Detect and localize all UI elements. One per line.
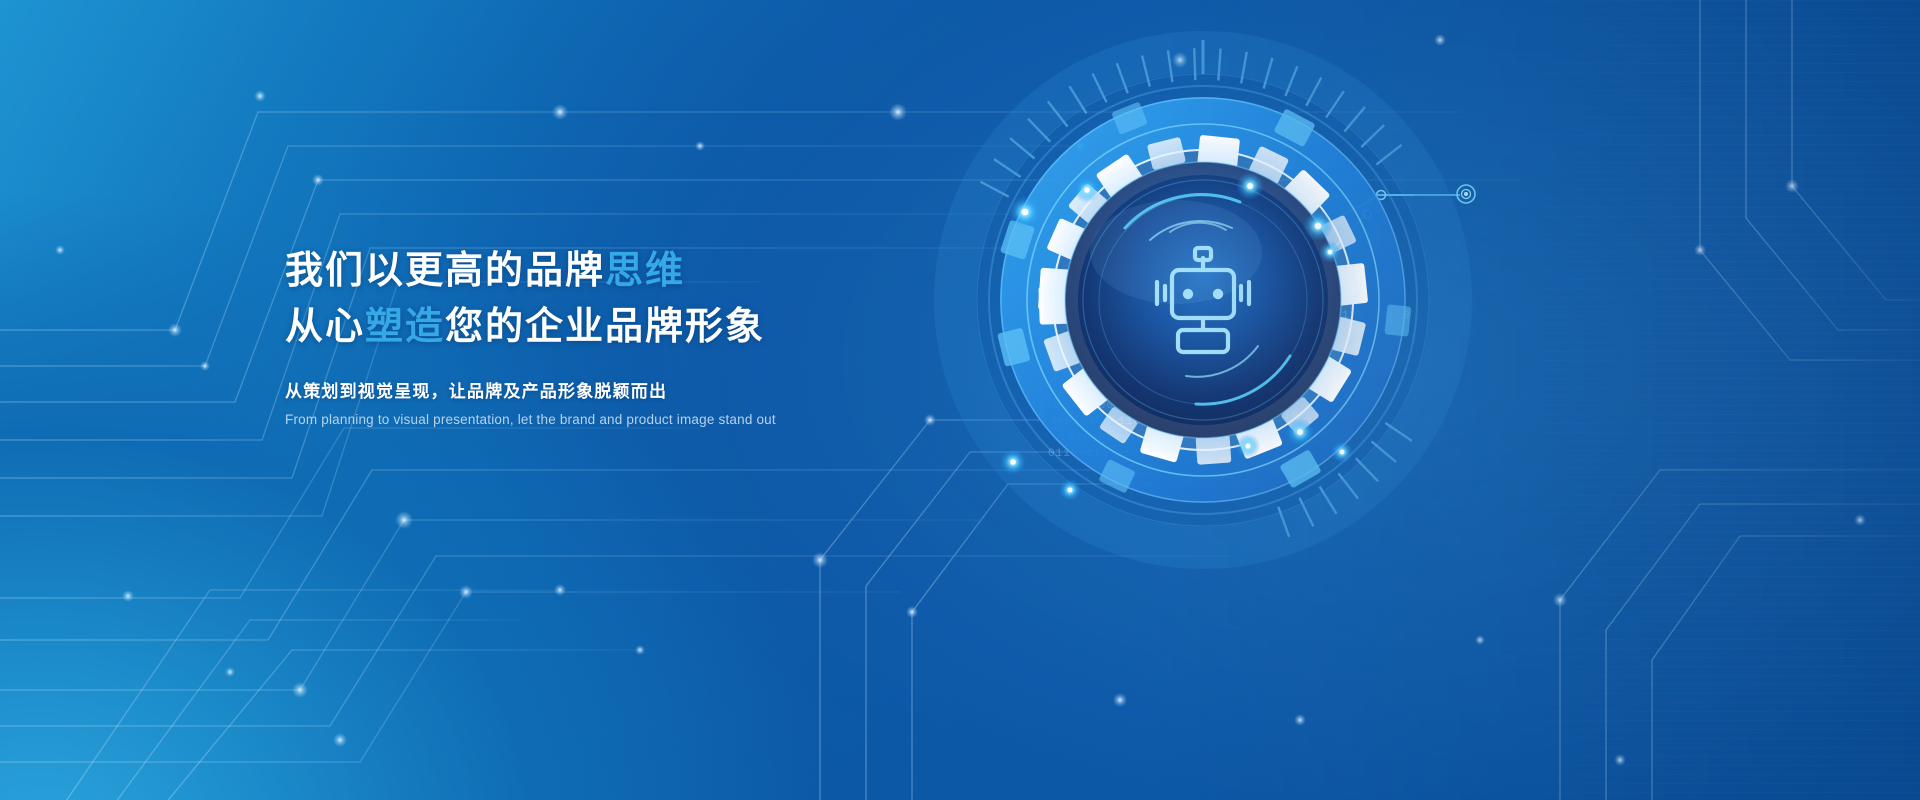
subtitle-english: From planning to visual presentation, le…	[285, 410, 1105, 429]
headline-line-1-accent: 思维	[605, 250, 685, 292]
headline-line-2: 从心塑造您的企业品牌形象	[285, 304, 1105, 350]
headline-line-1: 我们以更高的品牌思维	[285, 248, 1105, 294]
hero-banner: 1001 100 110 001 1011 001 1 0110 111 010…	[0, 0, 1920, 800]
headline-line-2-suffix: 您的企业品牌形象	[445, 306, 765, 348]
headline-line-2-prefix: 从心	[285, 306, 365, 348]
headline-line-2-accent: 塑造	[365, 306, 445, 348]
subtitle-chinese: 从策划到视觉呈现，让品牌及产品形象脱颖而出	[285, 380, 1105, 404]
headline-line-1-text: 我们以更高的品牌	[285, 250, 605, 292]
hero-copy: 我们以更高的品牌思维 从心塑造您的企业品牌形象 从策划到视觉呈现，让品牌及产品形…	[285, 248, 1105, 429]
